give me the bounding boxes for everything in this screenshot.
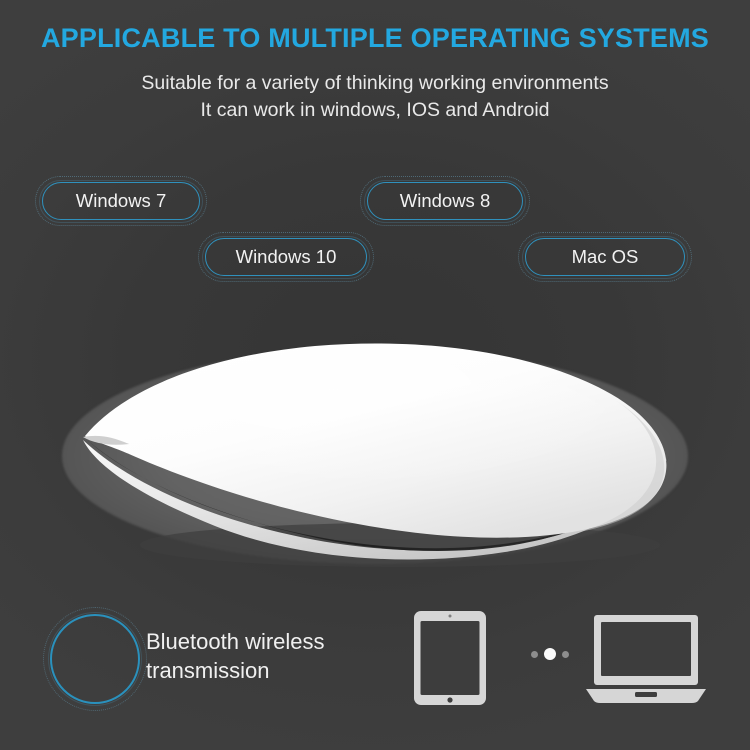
bluetooth-label-line-1: Bluetooth wireless <box>146 627 396 656</box>
product-hero <box>0 330 750 595</box>
promo-page: APPLICABLE TO MULTIPLE OPERATING SYSTEMS… <box>0 0 750 750</box>
connection-dot-1 <box>531 651 538 658</box>
os-badge-mac-os[interactable]: Mac OS <box>525 238 685 276</box>
tablet-screen <box>421 621 480 695</box>
subtitle-line-1: Suitable for a variety of thinking worki… <box>0 70 750 97</box>
bluetooth-feature-label: Bluetooth wireless transmission <box>146 627 396 686</box>
connection-dot-2 <box>544 648 556 660</box>
tablet-icon <box>413 610 487 706</box>
subtitle-line-2: It can work in windows, IOS and Android <box>0 97 750 124</box>
page-title: APPLICABLE TO MULTIPLE OPERATING SYSTEMS <box>0 24 750 54</box>
laptop-screen <box>601 622 691 676</box>
page-subtitle: Suitable for a variety of thinking worki… <box>0 70 750 124</box>
os-badge-windows-8[interactable]: Windows 8 <box>367 182 523 220</box>
laptop-icon <box>586 613 706 705</box>
tablet-camera-icon <box>449 615 452 618</box>
connection-dots <box>531 648 571 660</box>
bluetooth-ring-icon <box>50 614 140 704</box>
tablet-home-button <box>447 697 452 702</box>
os-badge-windows-10[interactable]: Windows 10 <box>205 238 367 276</box>
os-badge-windows-7[interactable]: Windows 7 <box>42 182 200 220</box>
laptop-trackpad <box>635 692 657 697</box>
connection-dot-3 <box>562 651 569 658</box>
bluetooth-label-line-2: transmission <box>146 656 396 685</box>
mouse-icon <box>55 330 695 585</box>
